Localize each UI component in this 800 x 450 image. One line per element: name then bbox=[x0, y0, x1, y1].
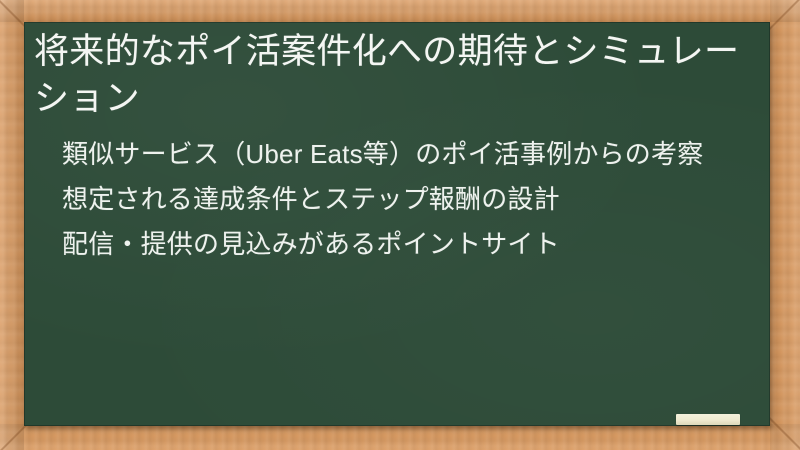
frame-miter-top-right bbox=[766, 0, 800, 33]
bullet-item-2: 想定される達成条件とステップ報酬の設計 bbox=[62, 181, 722, 218]
chalk-stick bbox=[676, 414, 740, 425]
chalkboard-slide: 将来的なポイ活案件化への期待とシミュレーション 類似サービス（Uber Eats… bbox=[0, 0, 800, 450]
bullet-list: 類似サービス（Uber Eats等）のポイ活事例からの考察 想定される達成条件と… bbox=[32, 136, 752, 263]
frame-shade-left bbox=[0, 0, 24, 450]
frame-shade-top bbox=[0, 0, 800, 22]
bullet-item-1: 類似サービス（Uber Eats等）のポイ活事例からの考察 bbox=[62, 136, 722, 173]
slide-title: 将来的なポイ活案件化への期待とシミュレーション bbox=[32, 26, 752, 122]
frame-miter-bottom-right bbox=[767, 416, 800, 450]
frame-shade-bottom bbox=[0, 424, 800, 450]
bullet-item-3: 配信・提供の見込みがあるポイントサイト bbox=[62, 226, 722, 263]
chalkboard-surface: 将来的なポイ活案件化への期待とシミュレーション 類似サービス（Uber Eats… bbox=[24, 22, 770, 426]
frame-shade-right bbox=[770, 0, 800, 450]
slide-content: 将来的なポイ活案件化への期待とシミュレーション 類似サービス（Uber Eats… bbox=[24, 22, 770, 426]
